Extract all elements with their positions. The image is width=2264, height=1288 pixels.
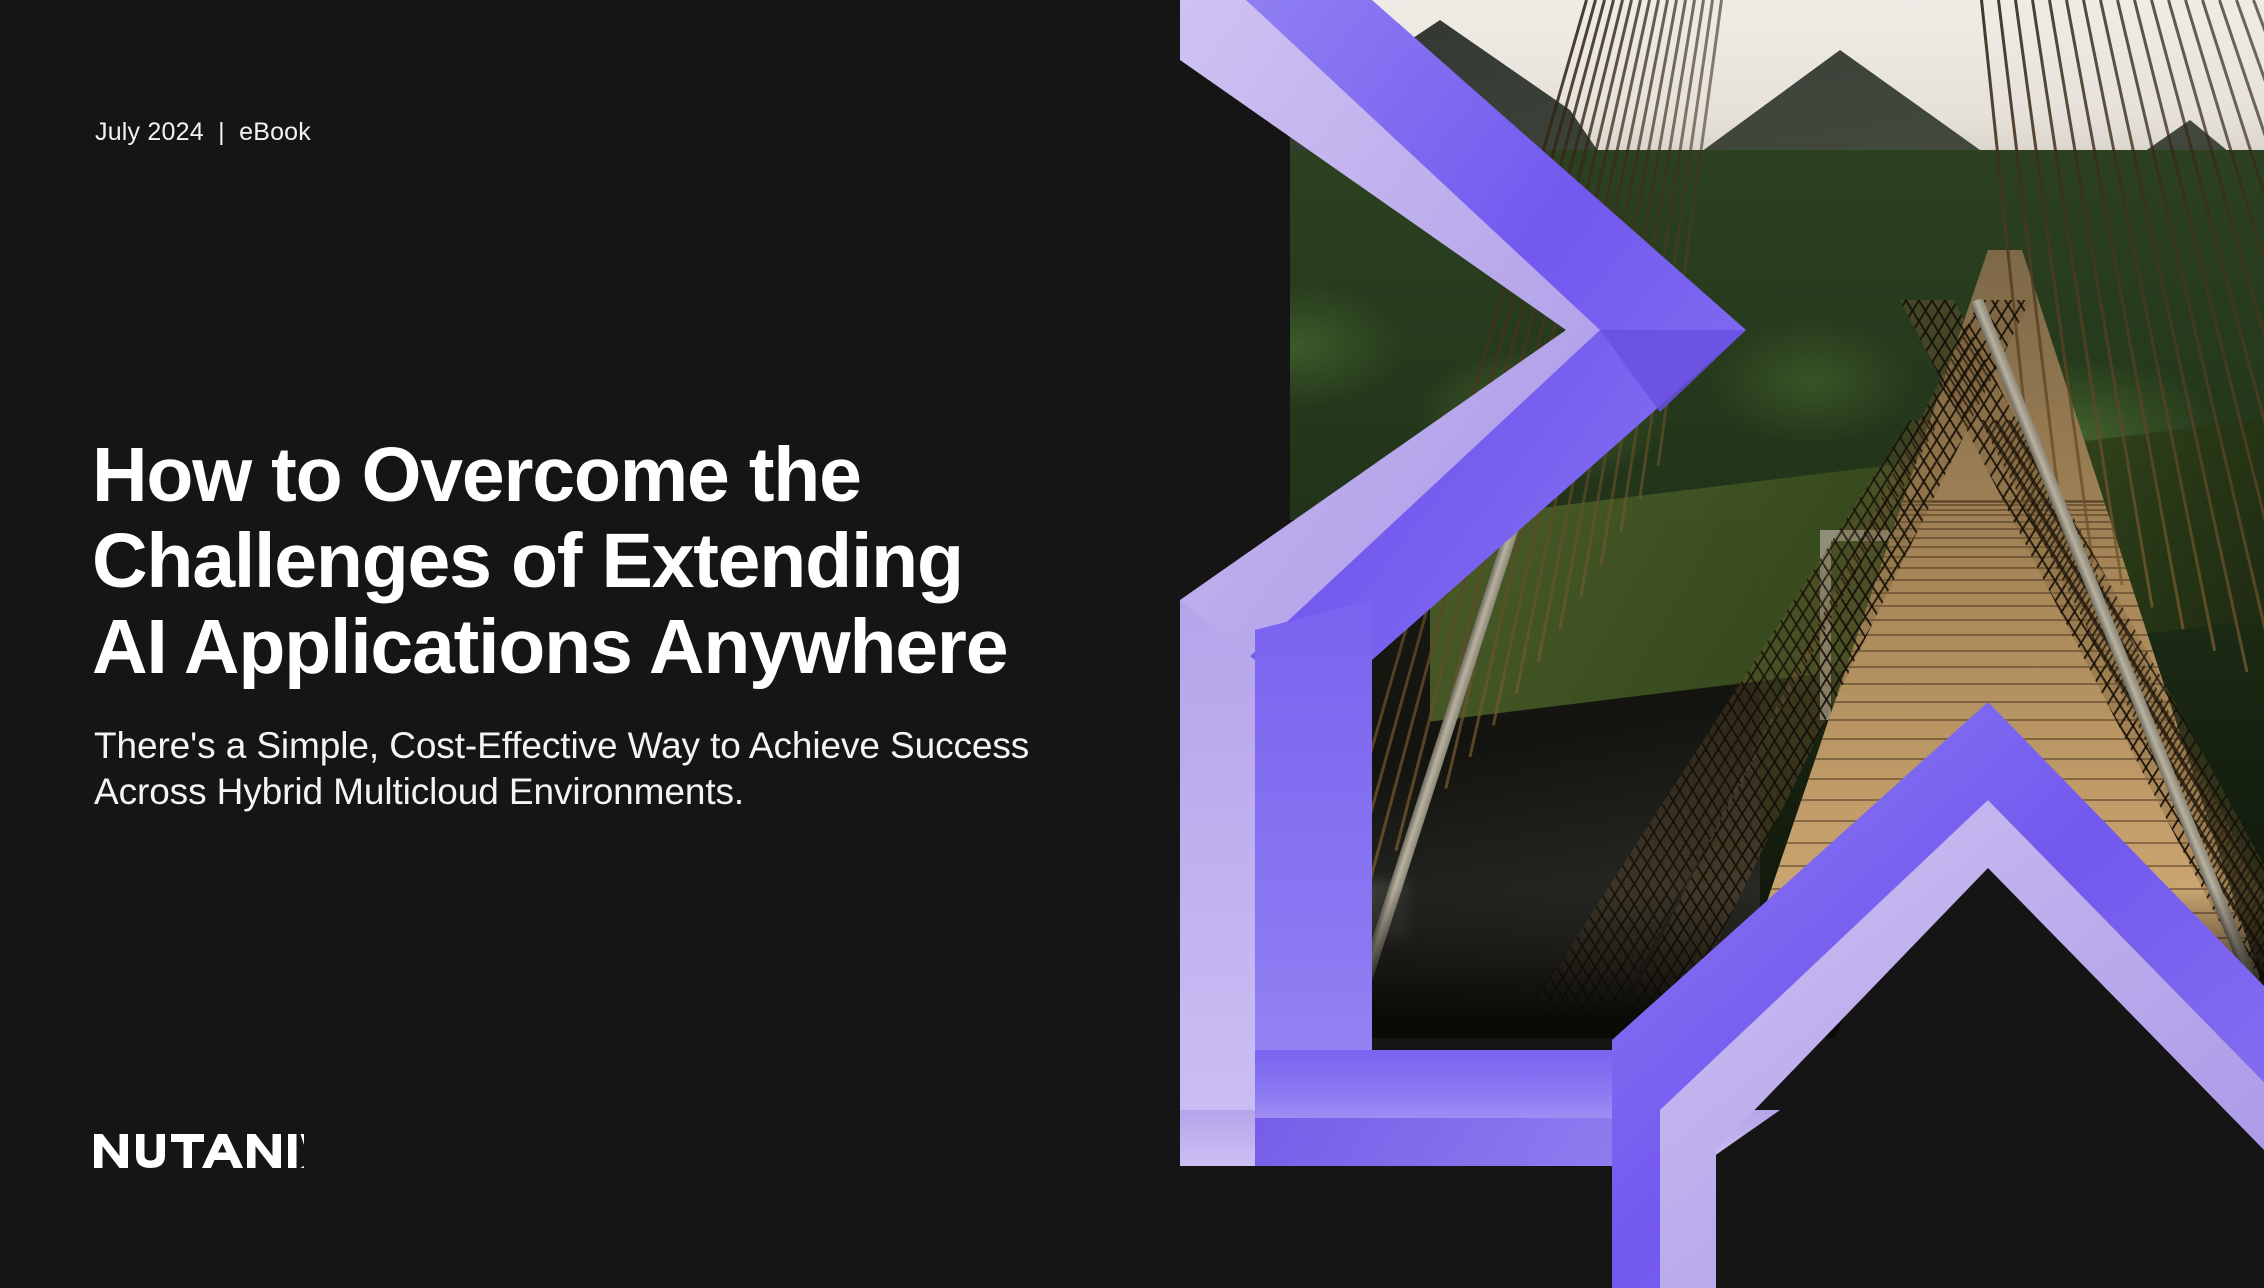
suspension-cable: [1369, 0, 1606, 882]
page-title: How to Overcome the Challenges of Extend…: [92, 432, 1152, 690]
hero-image: [1180, 0, 2264, 1288]
suspension-cable: [2116, 0, 2264, 694]
suspension-cable: [2184, 0, 2264, 774]
suspension-cable: [1342, 0, 1597, 912]
title-line-2: Challenges of Extending: [92, 518, 1152, 604]
nutanix-logo: NUTANIX: [94, 1134, 304, 1168]
title-line-1: How to Overcome the: [92, 432, 1152, 518]
chevron-left-inner-edge: [1180, 600, 1255, 1166]
title-line-3: AI Applications Anywhere: [92, 604, 1152, 690]
image-bottom-fade: [1180, 888, 2264, 1038]
page-subtitle: There's a Simple, Cost-Effective Way to …: [94, 723, 1154, 815]
bridge-photograph: [1180, 0, 2264, 1038]
subtitle-line-1: There's a Simple, Cost-Effective Way to …: [94, 723, 1154, 769]
ebook-cover: July 2024 | eBook How to Overcome the Ch…: [0, 0, 2264, 1288]
subtitle-line-2: Across Hybrid Multicloud Environments.: [94, 769, 1154, 815]
publication-meta: July 2024 | eBook: [95, 118, 311, 147]
suspension-cable: [1638, 0, 1714, 499]
